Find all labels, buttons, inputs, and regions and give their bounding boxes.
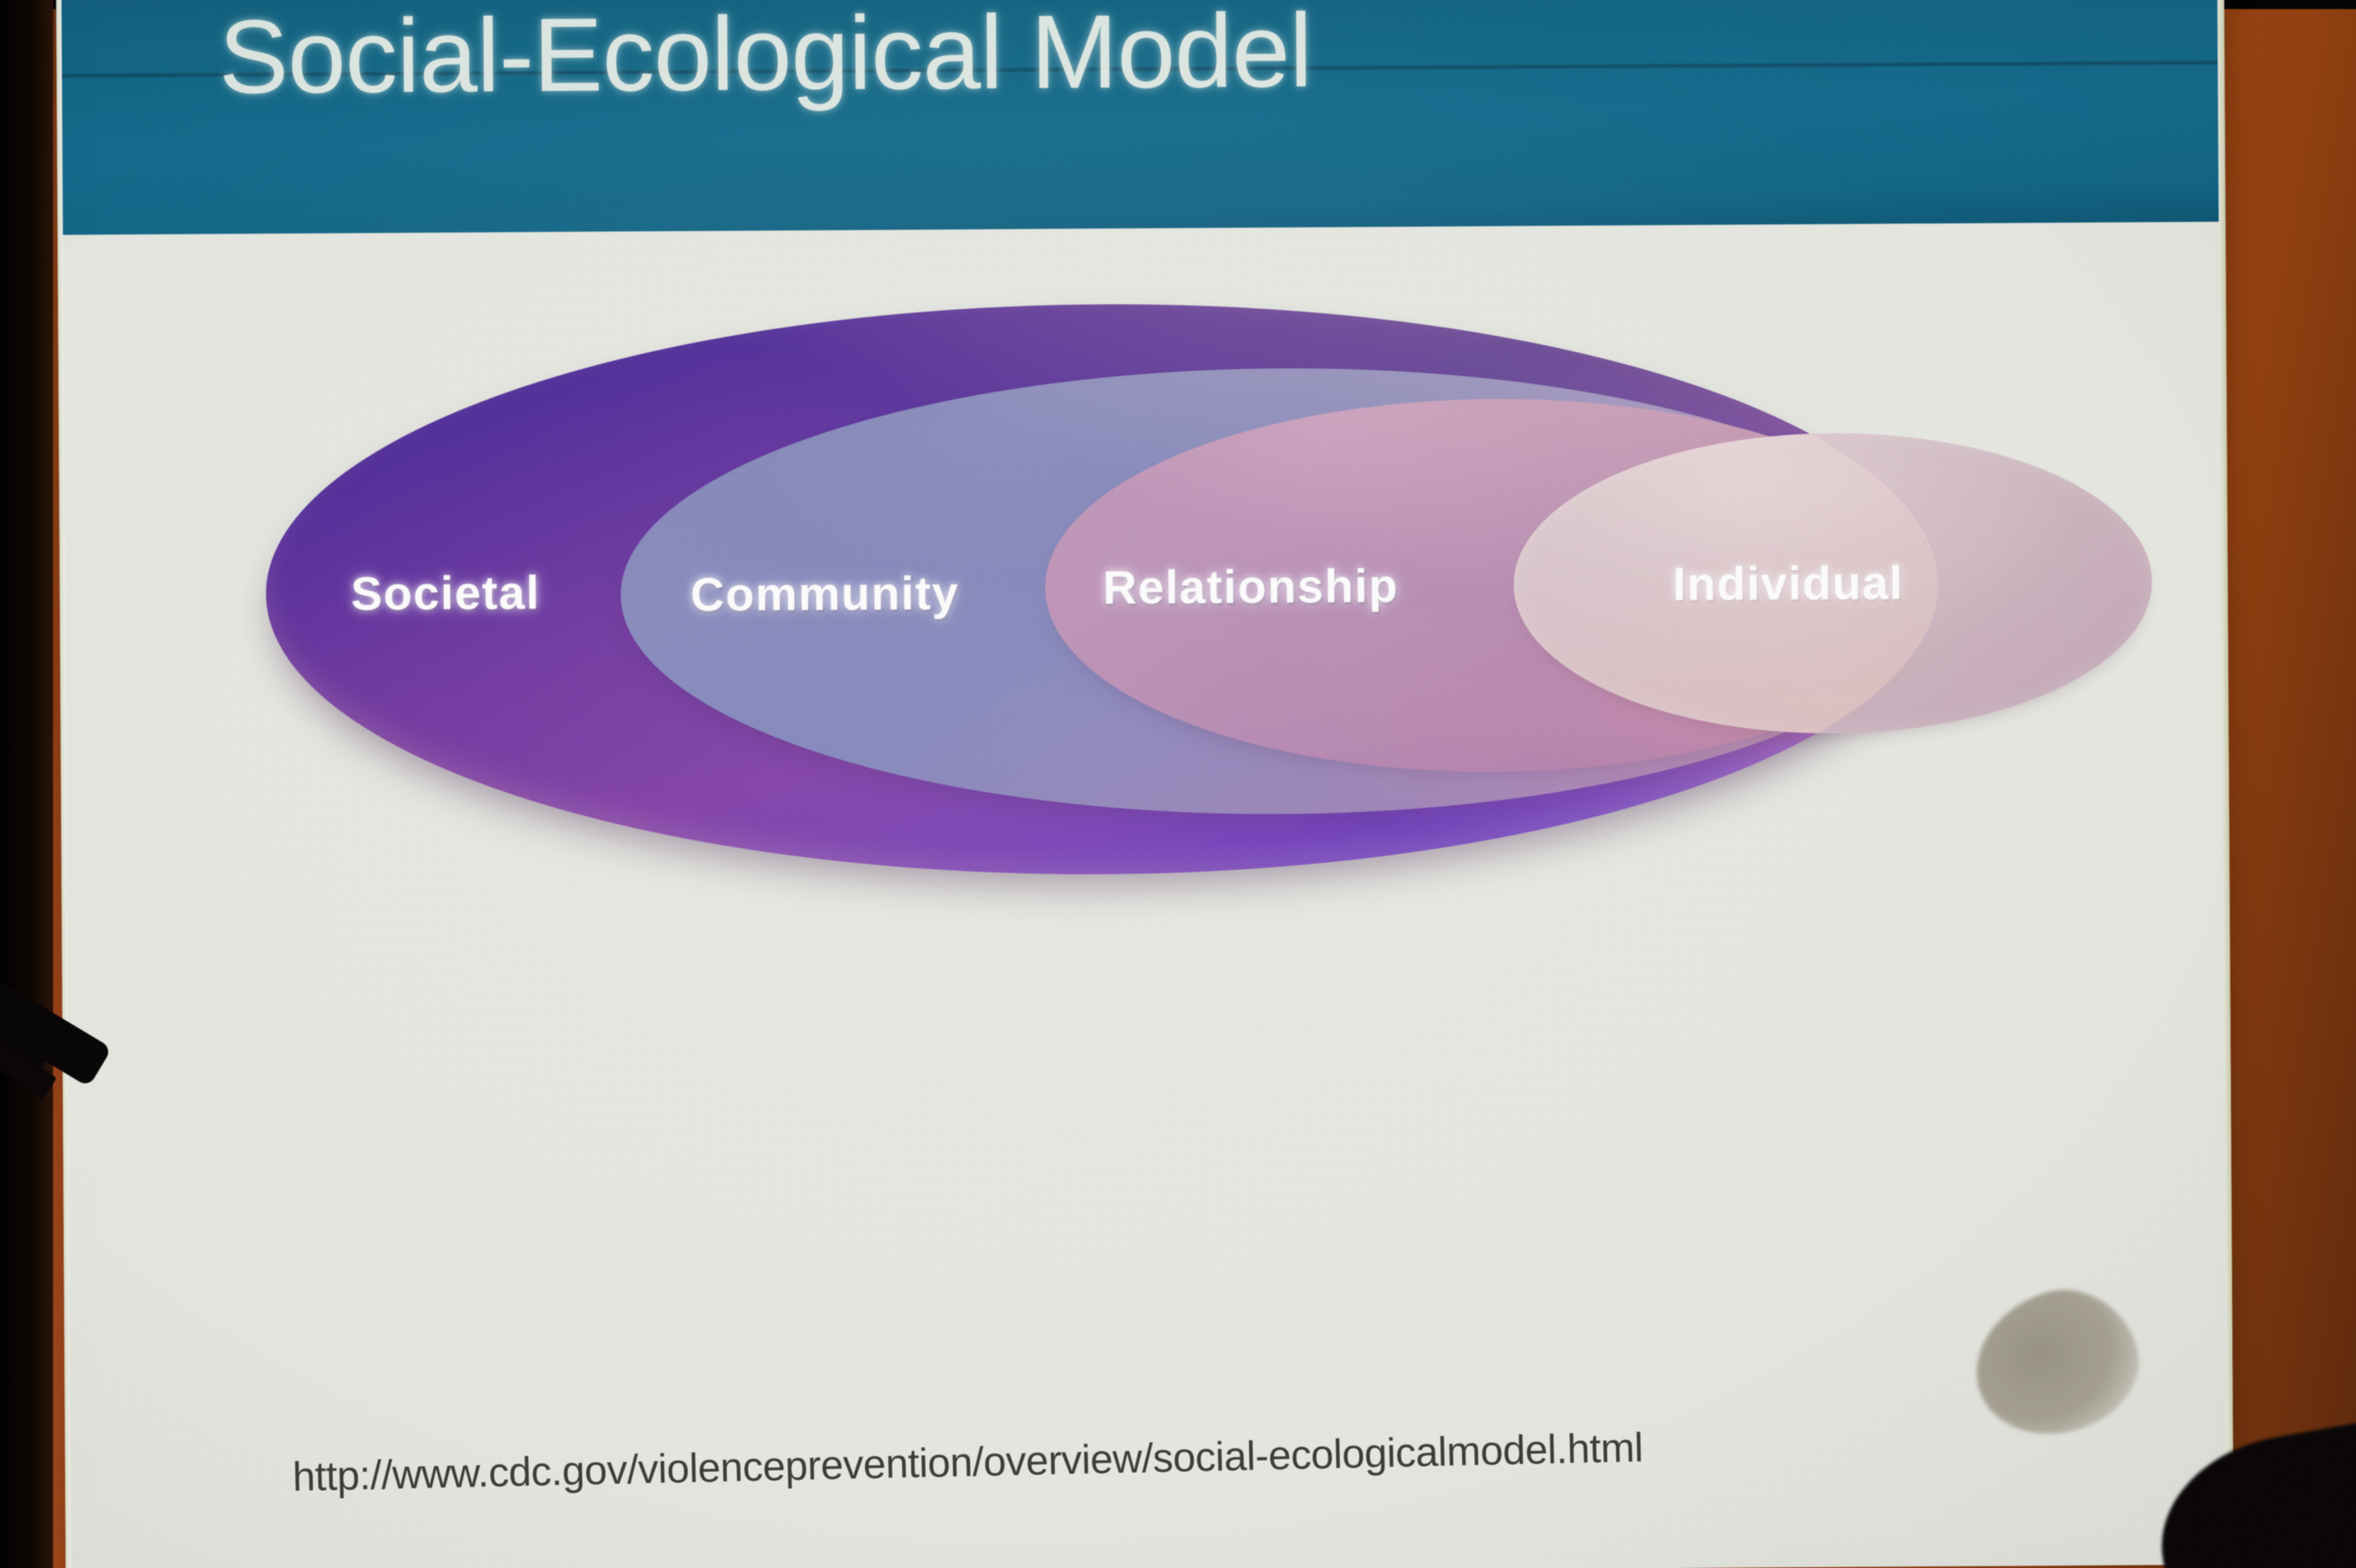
ellipse-individual: Individual xyxy=(1513,431,2153,735)
social-ecological-model-diagram: Societal Community Relationship Individu… xyxy=(58,231,2232,1320)
ellipse-label-relationship: Relationship xyxy=(1103,559,1399,615)
wall-left-shadow xyxy=(0,0,53,1568)
ellipse-label-individual: Individual xyxy=(1673,556,1904,612)
ellipse-label-community: Community xyxy=(691,566,960,621)
slide-title-banner: Social-Ecological Model xyxy=(56,0,2234,235)
ellipse-label-societal: Societal xyxy=(351,566,540,621)
slide-title: Social-Ecological Model xyxy=(218,0,1312,110)
projection-screen: Social-Ecological Model Societal Communi… xyxy=(56,0,2234,1568)
source-url-text: http://www.cdc.gov/violenceprevention/ov… xyxy=(292,1424,1643,1501)
projected-slide-photograph: Social-Ecological Model Societal Communi… xyxy=(0,0,2356,1568)
